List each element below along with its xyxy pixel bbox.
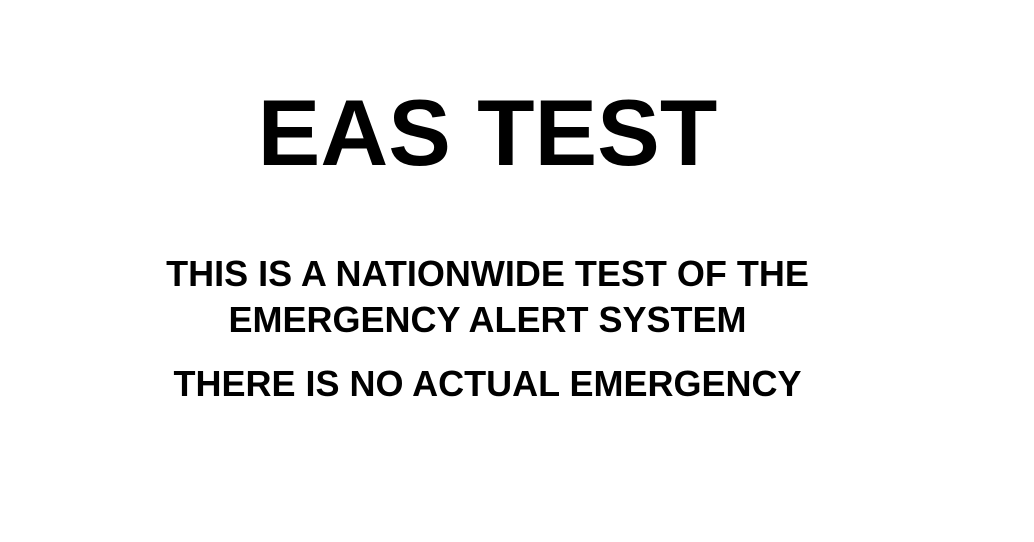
page-title: EAS TEST bbox=[0, 86, 975, 180]
secondary-alert-message: THERE IS NO ACTUAL EMERGENCY bbox=[0, 361, 975, 407]
emergency-alert-card: EAS TEST THIS IS A NATIONWIDE TEST OF TH… bbox=[0, 0, 975, 542]
primary-alert-message: THIS IS A NATIONWIDE TEST OF THE EMERGEN… bbox=[0, 251, 975, 343]
secondary-message-line-1: THERE IS NO ACTUAL EMERGENCY bbox=[0, 361, 975, 407]
eas-test-screen: EAS TEST THIS IS A NATIONWIDE TEST OF TH… bbox=[0, 0, 1034, 542]
primary-message-line-2: EMERGENCY ALERT SYSTEM bbox=[0, 297, 975, 343]
primary-message-line-1: THIS IS A NATIONWIDE TEST OF THE bbox=[0, 251, 975, 297]
